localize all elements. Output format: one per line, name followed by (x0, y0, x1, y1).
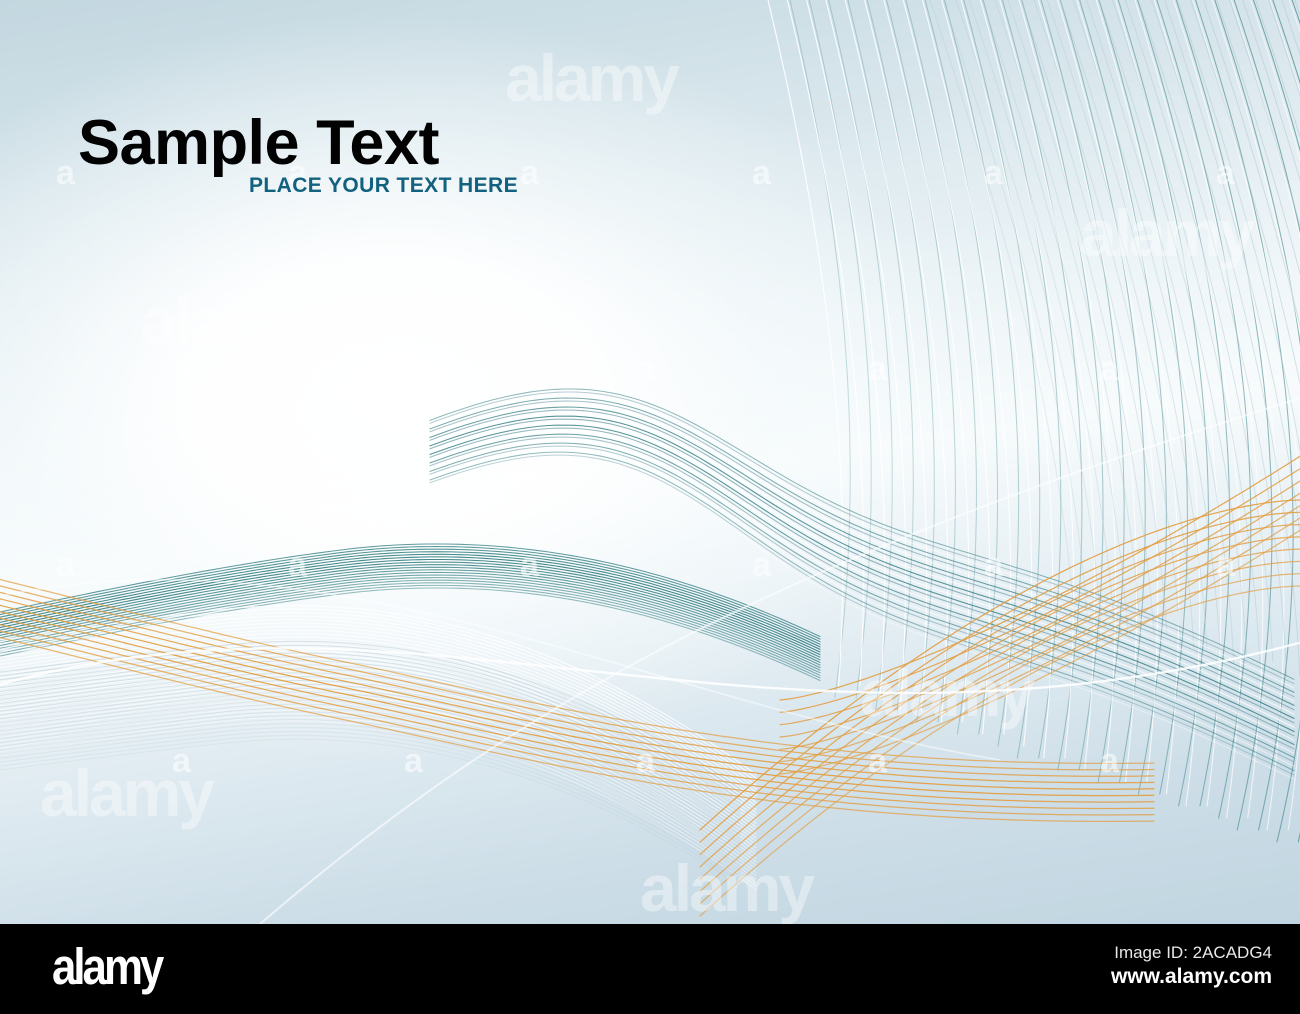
alamy-url: www.alamy.com (1111, 963, 1272, 991)
alamy-logo: alamy (52, 941, 161, 992)
alamy-footer-bar: alamy Image ID: 2ACADG4 www.alamy.com (0, 924, 1300, 1014)
top-right-white-fan (766, 0, 1300, 890)
footer-meta: Image ID: 2ACADG4 www.alamy.com (1111, 942, 1272, 992)
image-canvas: aaaaaaaaaaaaaaaaaaaaaaaaaaaaaaaaaalamyal… (0, 0, 1300, 1014)
page-title: Sample Text (78, 112, 439, 175)
white-sheen-ribbons (0, 395, 1300, 924)
page-subtitle: PLACE YOUR TEXT HERE (249, 174, 518, 198)
headline-block: Sample Text PLACE YOUR TEXT HERE (78, 112, 439, 175)
image-id-label: Image ID: 2ACADG4 (1111, 942, 1272, 963)
